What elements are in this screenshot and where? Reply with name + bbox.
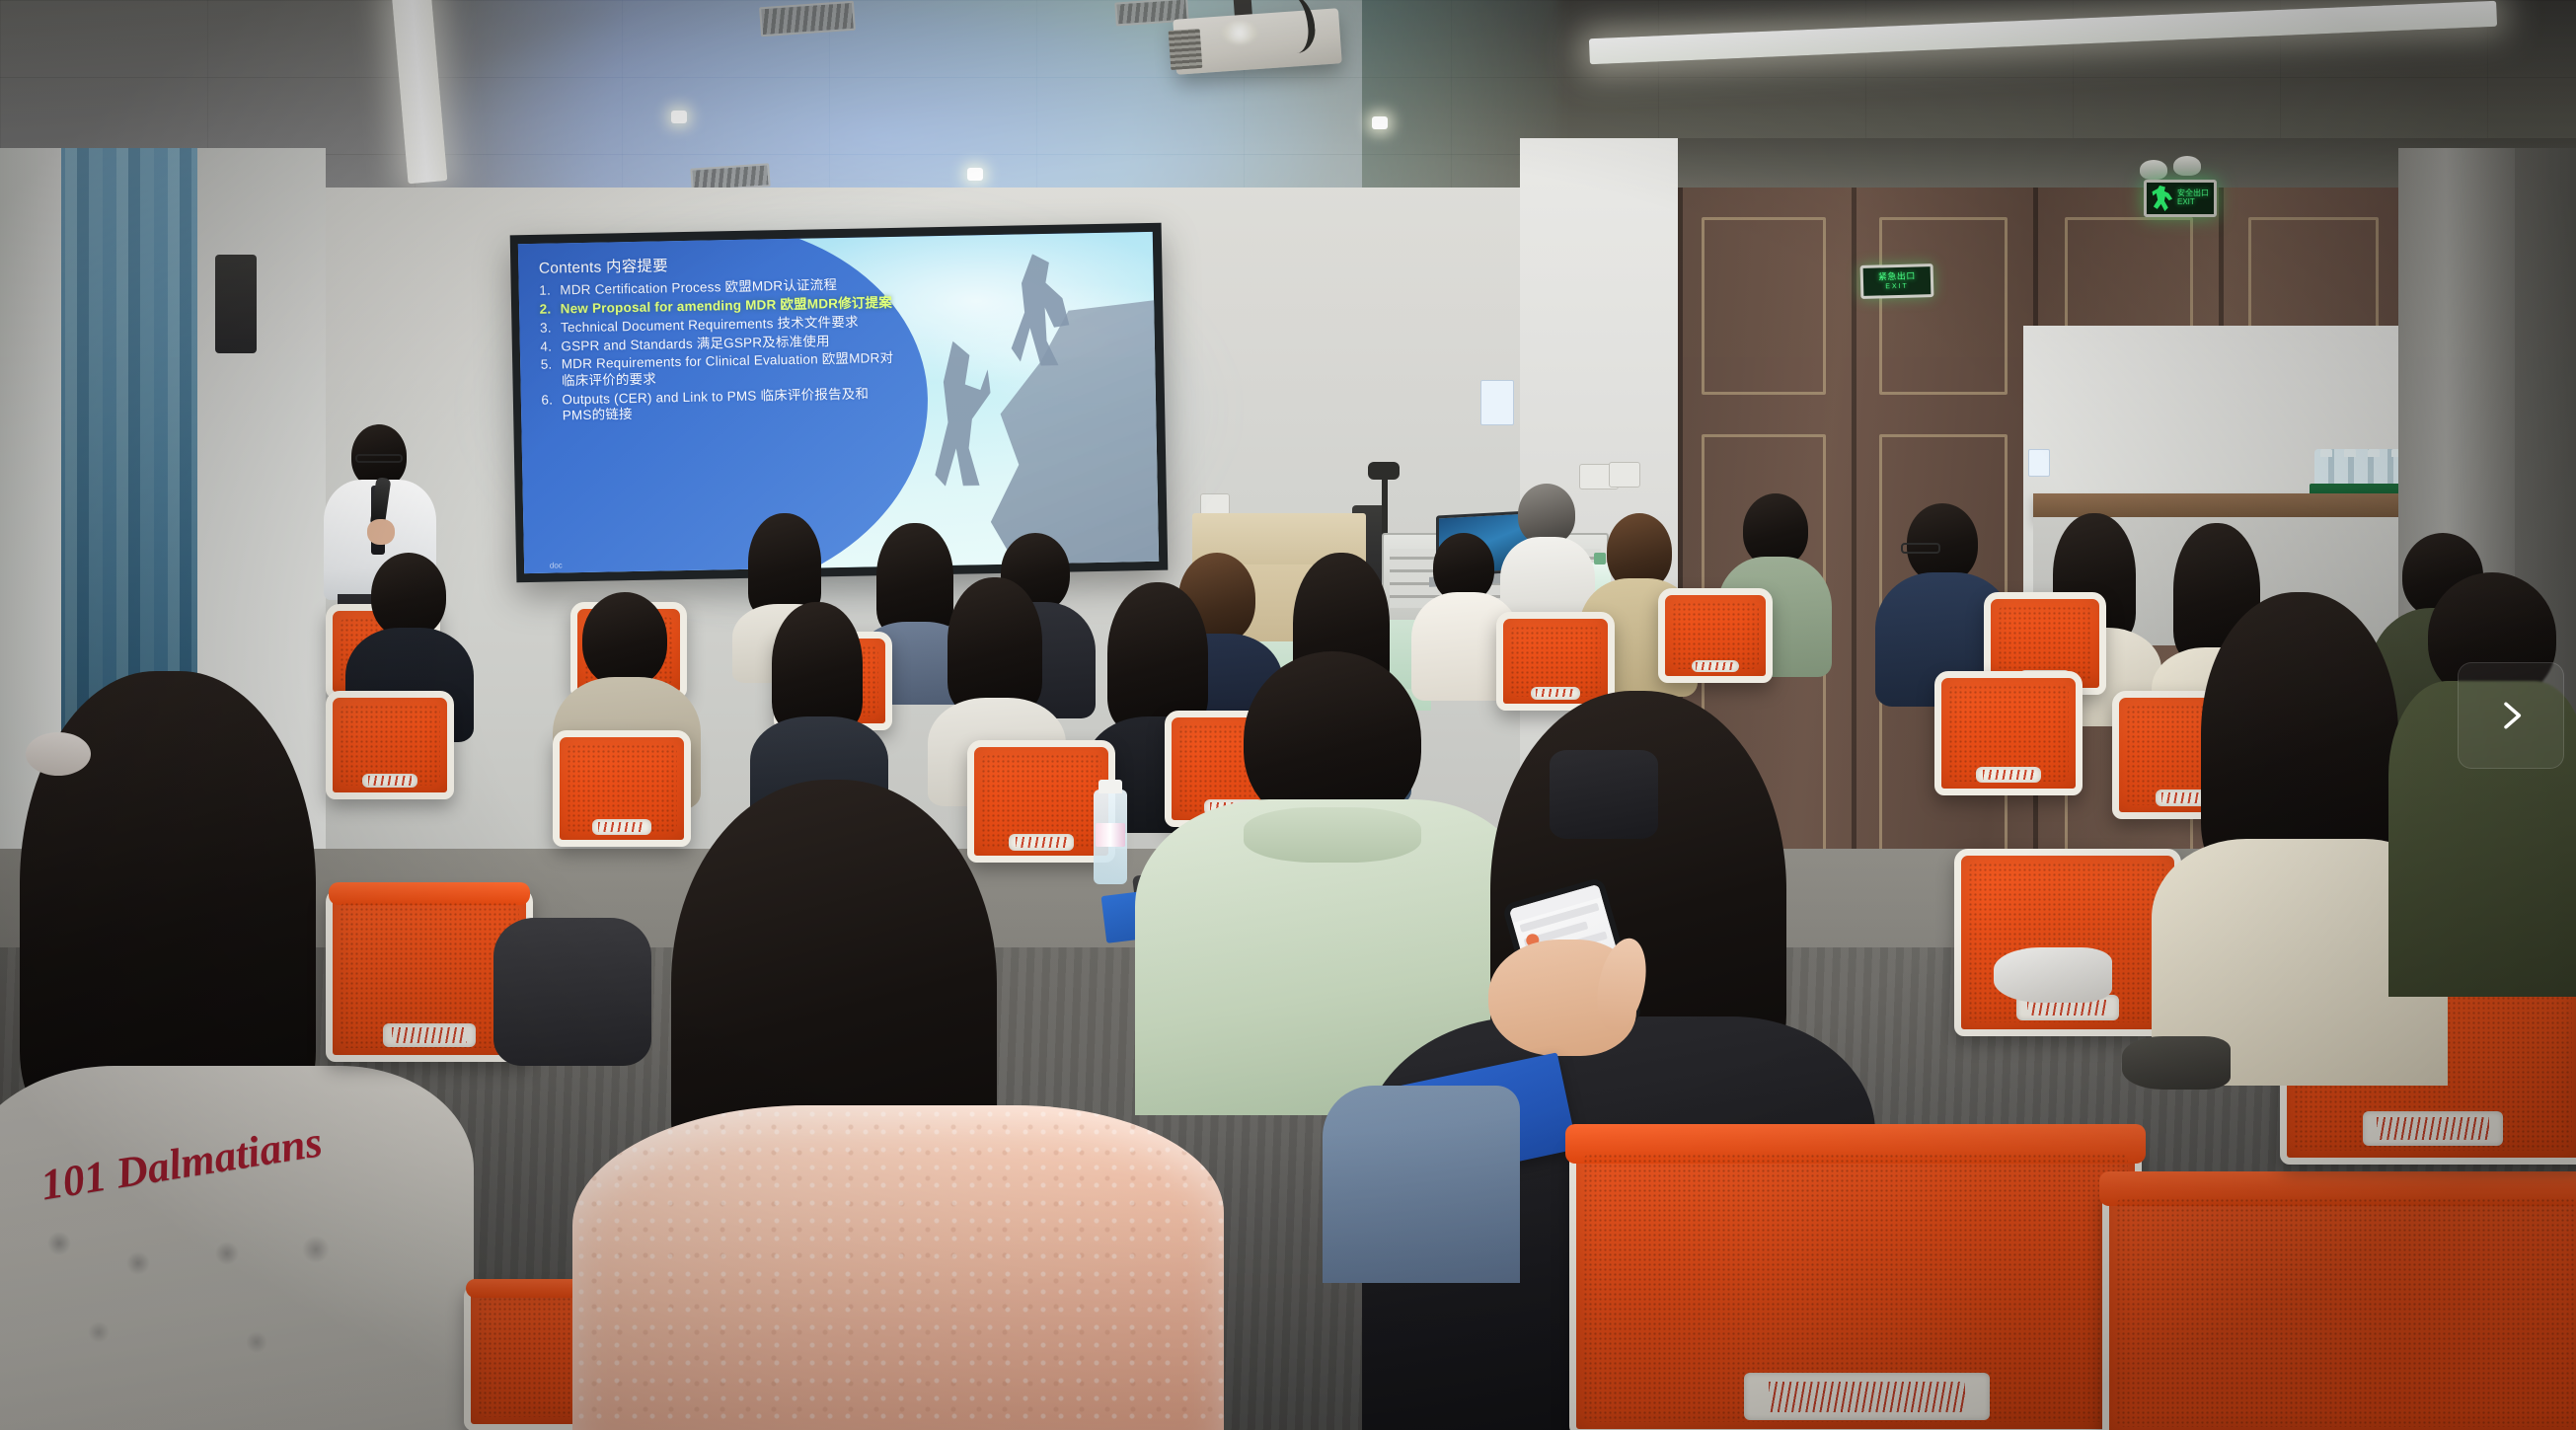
backpack bbox=[493, 918, 651, 1066]
wall-socket bbox=[1200, 493, 1230, 515]
wall-exit-sign-cn: 安全出口 bbox=[2177, 188, 2209, 197]
slide-text-block: Contents 内容提要 1.MDR Certification Proces… bbox=[539, 254, 897, 428]
ceiling-spotlight bbox=[671, 111, 687, 123]
hair-tie bbox=[26, 732, 91, 776]
chair bbox=[2102, 1184, 2576, 1430]
door-exit-sign-en: EXIT bbox=[1885, 283, 1909, 291]
slide-footer: doc bbox=[550, 561, 563, 569]
photo-viewer-stage: 紧急出口 EXIT 安全出口 EXIT Contents 内容提 bbox=[0, 0, 2576, 1430]
wall-notice bbox=[1480, 380, 1514, 425]
wall-speaker bbox=[215, 255, 257, 353]
slide-item-text: MDR Requirements for Clinical Evaluation… bbox=[562, 350, 897, 389]
slide-item-number: 4. bbox=[540, 339, 555, 355]
emergency-lamp-pair bbox=[2140, 156, 2219, 180]
shoe bbox=[1994, 947, 2112, 1003]
slide-item-5: 5.MDR Requirements for Clinical Evaluati… bbox=[541, 350, 897, 390]
wall-exit-sign: 安全出口 EXIT bbox=[2144, 180, 2217, 217]
slide-contents-list: 1.MDR Certification Process 欧盟MDR认证流程2.N… bbox=[539, 275, 897, 424]
slide-item-number: 6. bbox=[541, 392, 557, 424]
ceiling-spotlight bbox=[1372, 116, 1388, 129]
projector-lens-glow bbox=[1222, 22, 1257, 43]
chair bbox=[1658, 588, 1773, 683]
slide-item-number: 5. bbox=[541, 357, 557, 390]
eyeglasses-icon bbox=[1901, 543, 1940, 554]
handbag bbox=[1550, 750, 1658, 839]
wall-exit-sign-en: EXIT bbox=[2177, 197, 2195, 206]
hand-holding-phone bbox=[1480, 878, 1678, 1066]
microphone-stand-head bbox=[1368, 462, 1400, 480]
attendee bbox=[750, 602, 888, 809]
wall-notice bbox=[2028, 449, 2050, 477]
slide-item-number: 2. bbox=[540, 301, 555, 318]
next-image-button[interactable] bbox=[2458, 662, 2564, 769]
chair bbox=[1954, 849, 2181, 1036]
attendee-olive-shirt bbox=[2388, 572, 2576, 987]
presenter-hand bbox=[367, 519, 395, 545]
denim-lap bbox=[1323, 1086, 1520, 1283]
chair bbox=[1569, 1140, 2142, 1430]
slide-item-6: 6.Outputs (CER) and Link to PMS 临床评价报告及和… bbox=[541, 386, 897, 425]
ceiling-spotlight bbox=[967, 168, 983, 181]
wall-socket bbox=[1609, 462, 1640, 488]
slide-item-text: Outputs (CER) and Link to PMS 临床评价报告及和PM… bbox=[562, 386, 897, 424]
dalmatians-dog-sketches bbox=[0, 1204, 395, 1401]
slide-item-text: MDR Certification Process 欧盟MDR认证流程 bbox=[560, 277, 837, 299]
door-exit-sign: 紧急出口 EXIT bbox=[1860, 263, 1934, 299]
door-exit-sign-cn: 紧急出口 bbox=[1878, 271, 1916, 282]
coat-fur-texture bbox=[572, 1105, 1224, 1430]
chair bbox=[1934, 671, 2083, 795]
running-person-exit-icon bbox=[2151, 186, 2174, 211]
chevron-right-icon bbox=[2491, 696, 2531, 735]
projector-vent-grill bbox=[1169, 29, 1203, 70]
slide-item-number: 1. bbox=[539, 282, 554, 299]
presenter-glasses bbox=[355, 454, 403, 463]
slide-item-number: 3. bbox=[540, 320, 555, 337]
shoe bbox=[2122, 1036, 2231, 1090]
